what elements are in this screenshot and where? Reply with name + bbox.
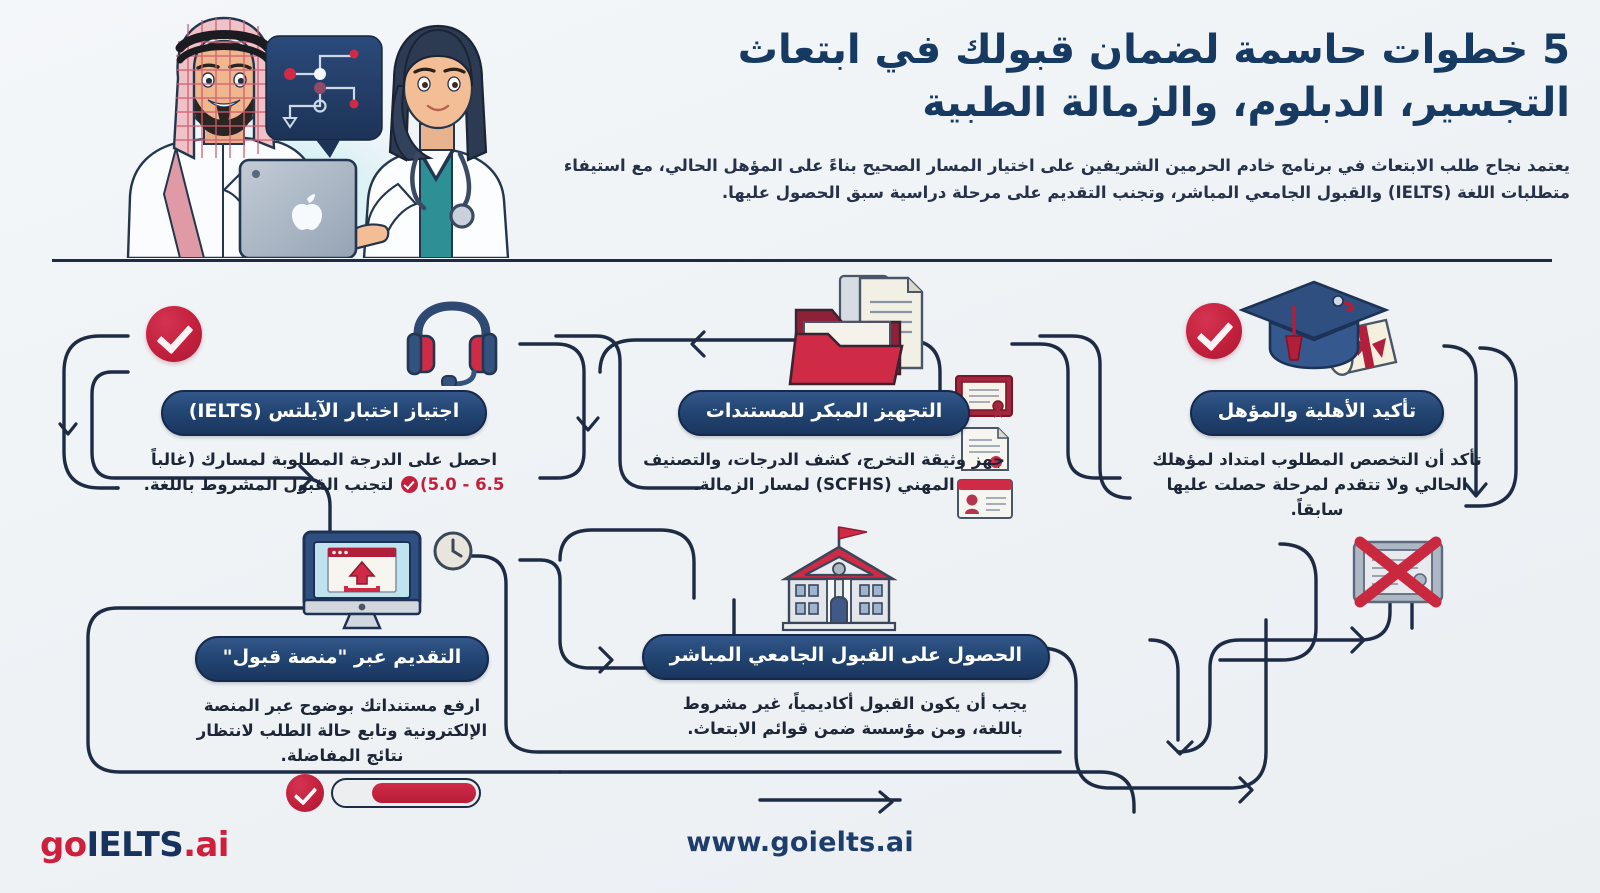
clock-icon [431, 529, 475, 577]
step-body-ielts: احصل على الدرجة المطلوبة لمسارك (غالباً … [126, 447, 522, 497]
header-section: 5 خطوات حاسمة لضمان قبولك في ابتعاث التج… [0, 0, 1600, 262]
progress-check-icon [286, 774, 324, 812]
infographic-canvas: 5 خطوات حاسمة لضمان قبولك في ابتعاث التج… [0, 0, 1600, 893]
illustration-flow-bubble [266, 36, 382, 158]
rejected-certificate-icon [1348, 534, 1448, 614]
step-card-platform: التقديم عبر "منصة قبول" ارفع مستنداتك بو… [180, 636, 504, 768]
illustration-tablet [240, 160, 356, 258]
step-card-documents: التجهيز المبكر للمستندات جهز وثيقة التخر… [636, 390, 1012, 497]
step-body-ielts-part2: لتجنب القبول المشروط باللغة. [144, 475, 394, 494]
progress-bar-fill [372, 783, 476, 803]
headset-icon [404, 300, 500, 390]
step-card-ielts: اجتياز اختبار الآيلتس (IELTS) احصل على ا… [126, 390, 522, 497]
step-title-admission: الحصول على القبول الجامعي المباشر [642, 634, 1050, 680]
title-block: 5 خطوات حاسمة لضمان قبولك في ابتعاث التج… [540, 24, 1570, 207]
step-check-badge-ielts [146, 306, 202, 362]
footer-website-url[interactable]: www.goielts.ai [0, 827, 1600, 858]
header-divider [52, 259, 1552, 262]
application-progress-widget [286, 774, 481, 812]
step-body-admission: يجب أن يكون القبول أكاديمياً، غير مشروط … [660, 691, 1050, 741]
page-title-line-1: 5 خطوات حاسمة لضمان قبولك في ابتعاث [540, 24, 1570, 77]
folder-documents-icon [786, 272, 926, 394]
step-body-platform: ارفع مستنداتك بوضوح عبر المنصة الإلكترون… [180, 693, 504, 768]
inline-check-icon [401, 476, 418, 493]
progress-bar-track [331, 778, 481, 808]
graduation-cap-icon [1236, 276, 1416, 396]
step-card-eligibility: تأكيد الأهلية والمؤهل تأكد أن التخصص الم… [1152, 390, 1482, 522]
step-check-badge-eligibility [1186, 303, 1242, 359]
step-title-eligibility: تأكيد الأهلية والمؤهل [1190, 390, 1444, 436]
step-body-documents: جهز وثيقة التخرج، كشف الدرجات، والتصنيف … [636, 447, 1012, 497]
step-title-documents: التجهيز المبكر للمستندات [678, 390, 971, 436]
page-title-line-2: التجسير، الدبلوم، والزمالة الطبية [540, 77, 1570, 130]
desktop-upload-icon [300, 528, 424, 636]
step-card-admission: الحصول على القبول الجامعي المباشر يجب أن… [660, 634, 1050, 741]
ielts-score-range: 6.5 - 5.0) [420, 475, 504, 494]
hero-illustration [68, 8, 528, 258]
step-title-platform: التقديم عبر "منصة قبول" [195, 636, 490, 682]
page-subtitle: يعتمد نجاح طلب الابتعاث في برنامج خادم ا… [540, 152, 1570, 207]
university-building-icon [779, 521, 899, 641]
page-title: 5 خطوات حاسمة لضمان قبولك في ابتعاث التج… [540, 24, 1570, 130]
step-title-ielts: اجتياز اختبار الآيلتس (IELTS) [161, 390, 488, 436]
step-body-ielts-part1: احصل على الدرجة المطلوبة لمسارك (غالباً [151, 450, 497, 469]
step-body-eligibility: تأكد أن التخصص المطلوب امتداد لمؤهلك الح… [1152, 447, 1482, 522]
